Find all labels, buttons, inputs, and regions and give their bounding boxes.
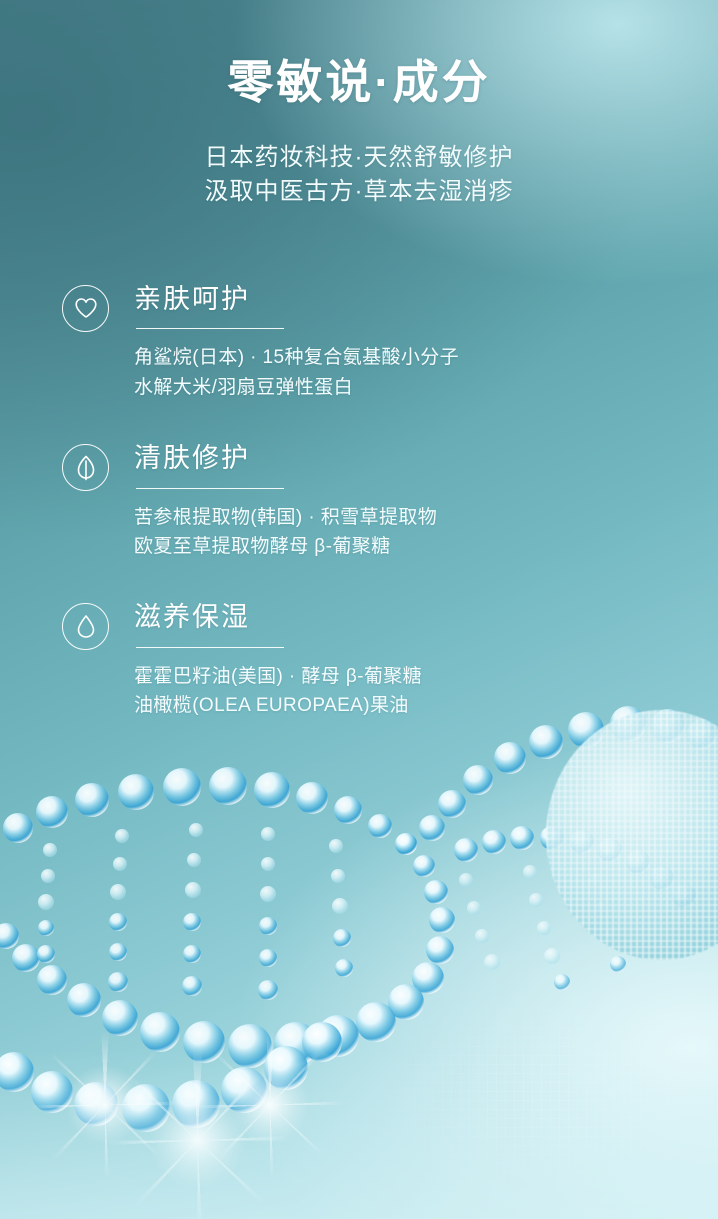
ingredient-line: 水解大米/羽扇豆弹性蛋白 <box>134 373 718 402</box>
page-title: 零敏说·成分 <box>0 58 718 107</box>
ingredient-line: 角鲨烷(日本) · 15种复合氨基酸小分子 <box>134 343 718 372</box>
feature-divider <box>136 647 284 648</box>
ingredient-line: 欧夏至草提取物酵母 β-葡聚糖 <box>134 532 718 561</box>
feature-body: 滋养保湿 霍霍巴籽油(美国) · 酵母 β-葡聚糖 油橄榄(OLEA EUROP… <box>62 601 718 720</box>
ingredient-line: 油橄榄(OLEA EUROPAEA)果油 <box>134 691 718 720</box>
feature-description: 苦参根提取物(韩国) · 积雪草提取物 欧夏至草提取物酵母 β-葡聚糖 <box>134 503 718 562</box>
feature-body: 亲肤呵护 角鲨烷(日本) · 15种复合氨基酸小分子 水解大米/羽扇豆弹性蛋白 <box>62 283 718 402</box>
feature-heading: 亲肤呵护 <box>134 283 718 315</box>
feature-item-moisturising: 滋养保湿 霍霍巴籽油(美国) · 酵母 β-葡聚糖 油橄榄(OLEA EUROP… <box>62 601 718 720</box>
poster-header: 零敏说·成分 日本药妆科技·天然舒敏修护 汲取中医古方·草本去湿消疹 <box>0 0 718 209</box>
subtitle-line-1: 日本药妆科技·天然舒敏修护 <box>0 141 718 175</box>
feature-heading: 滋养保湿 <box>134 601 718 633</box>
feature-item-skin-care: 亲肤呵护 角鲨烷(日本) · 15种复合氨基酸小分子 水解大米/羽扇豆弹性蛋白 <box>62 283 718 402</box>
subtitle-line-2: 汲取中医古方·草本去湿消疹 <box>0 175 718 209</box>
bottom-haze <box>0 1049 718 1219</box>
ingredient-line: 苦参根提取物(韩国) · 积雪草提取物 <box>134 503 718 532</box>
ingredient-poster: 零敏说·成分 日本药妆科技·天然舒敏修护 汲取中医古方·草本去湿消疹 亲肤呵护 … <box>0 0 718 1219</box>
feature-description: 角鲨烷(日本) · 15种复合氨基酸小分子 水解大米/羽扇豆弹性蛋白 <box>134 343 718 402</box>
feature-list: 亲肤呵护 角鲨烷(日本) · 15种复合氨基酸小分子 水解大米/羽扇豆弹性蛋白 … <box>0 283 718 721</box>
feature-heading: 清肤修护 <box>134 442 718 474</box>
subtitle-block: 日本药妆科技·天然舒敏修护 汲取中医古方·草本去湿消疹 <box>0 141 718 209</box>
feature-description: 霍霍巴籽油(美国) · 酵母 β-葡聚糖 油橄榄(OLEA EUROPAEA)果… <box>134 662 718 721</box>
ingredient-line: 霍霍巴籽油(美国) · 酵母 β-葡聚糖 <box>134 662 718 691</box>
feature-divider <box>136 328 284 329</box>
feature-item-clear-skin: 清肤修护 苦参根提取物(韩国) · 积雪草提取物 欧夏至草提取物酵母 β-葡聚糖 <box>62 442 718 561</box>
dna-helix-artwork <box>0 700 718 1219</box>
feature-body: 清肤修护 苦参根提取物(韩国) · 积雪草提取物 欧夏至草提取物酵母 β-葡聚糖 <box>62 442 718 561</box>
feature-divider <box>136 488 284 489</box>
heart-icon <box>62 285 109 332</box>
leaf-icon <box>62 444 109 491</box>
